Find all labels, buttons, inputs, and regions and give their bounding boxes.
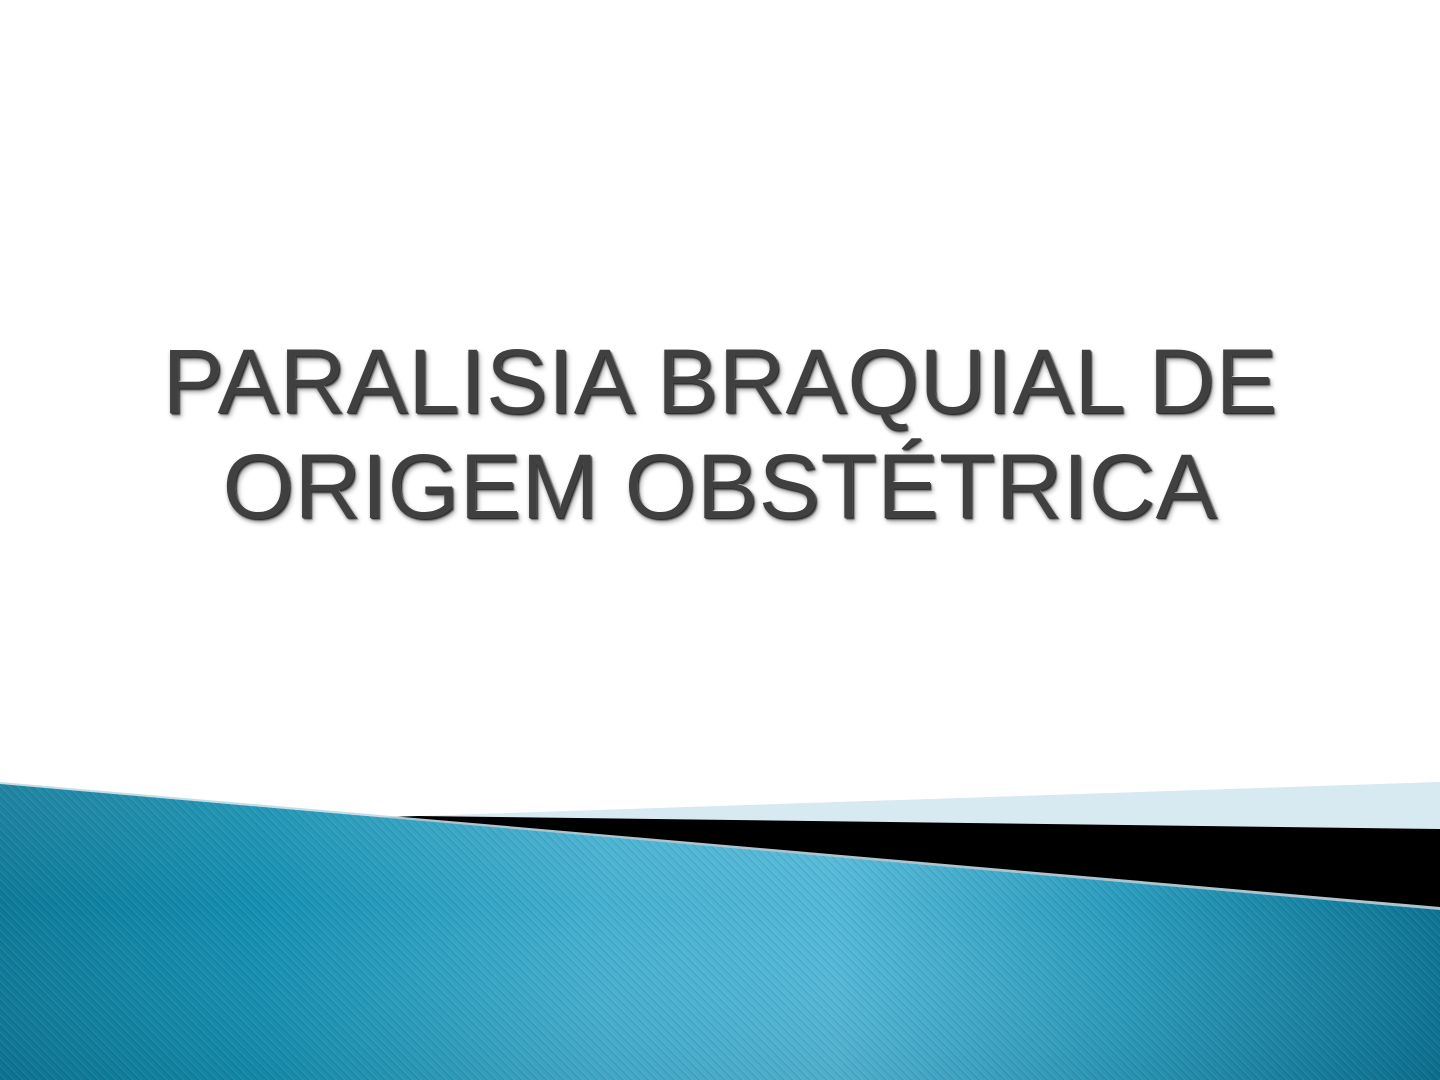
- teal-band: [0, 760, 1440, 1080]
- page-title: PARALISIA BRAQUIAL DE ORIGEM OBSTÉTRICA: [120, 330, 1320, 540]
- teal-band-highlight-edge: [0, 782, 1440, 913]
- page-title-line-2: ORIGEM OBSTÉTRICA: [120, 435, 1320, 540]
- light-blue-wedge: [0, 782, 1440, 829]
- title-slide: PARALISIA BRAQUIAL DE ORIGEM OBSTÉTRICA: [0, 0, 1440, 1080]
- footer-decoration: [0, 0, 1440, 1080]
- black-wedge: [0, 816, 1440, 910]
- footer-decoration-svg: [0, 0, 1440, 1080]
- page-title-line-1: PARALISIA BRAQUIAL DE: [120, 330, 1320, 435]
